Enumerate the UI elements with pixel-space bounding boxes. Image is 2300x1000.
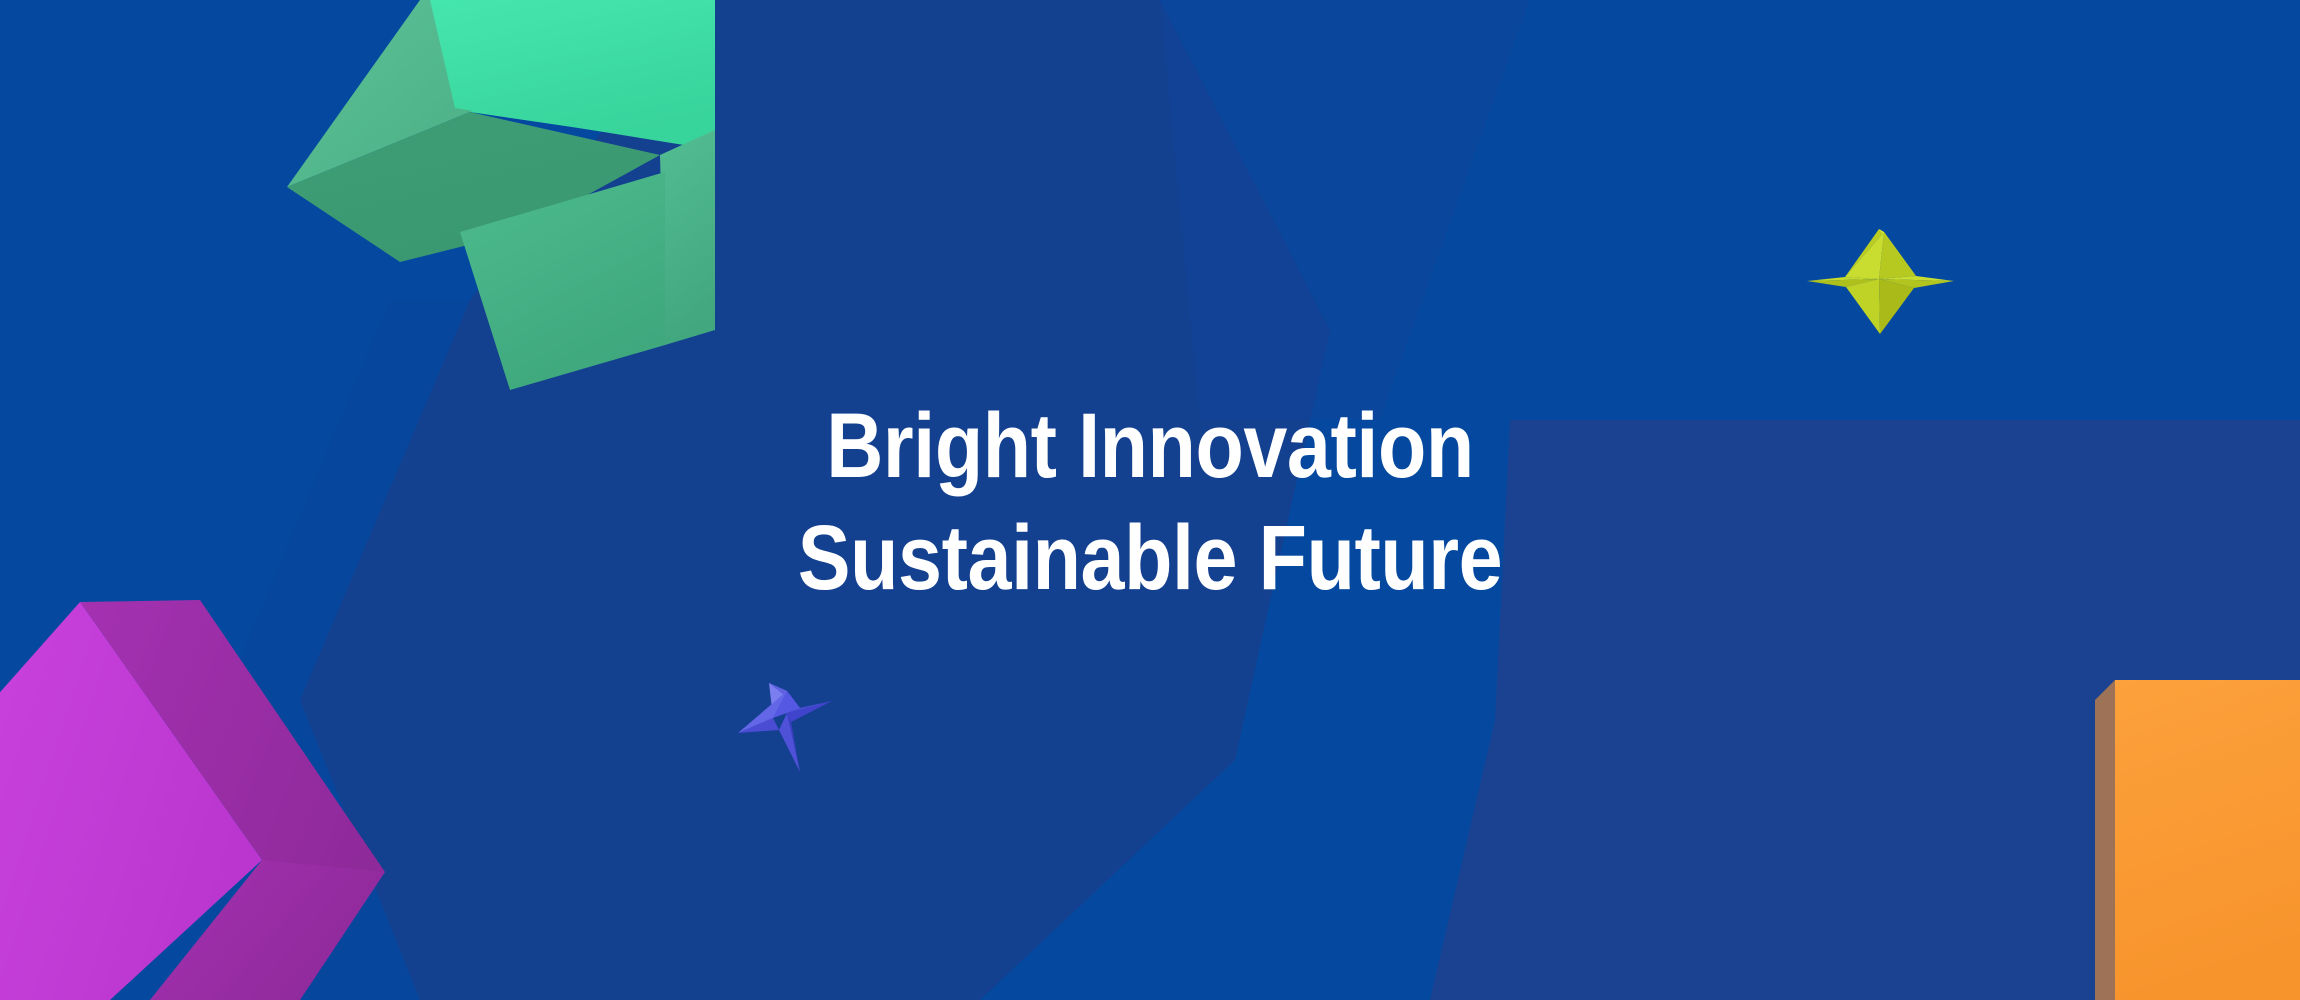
yellow-star-facet-bottom-left [1846,279,1880,334]
yellow-star-facet-core-upper-left [1845,232,1884,279]
orange-cube-shape [2095,680,2300,1000]
green-cube-shape [287,0,715,390]
yellow-star-shape [1807,229,1954,334]
green-cube-face-right [660,130,715,345]
blue-star-shape [738,683,832,772]
yellow-star-facet-core-upper-right [1879,232,1916,279]
orange-cube-edge [2095,680,2115,1000]
yellow-star-facet-bottom-right [1879,279,1914,334]
magenta-cube-shape [0,600,385,1000]
orange-cube-face-front [2115,680,2300,1000]
decorative-shapes-layer [0,0,2300,1000]
hero-banner: Bright Innovation Sustainable Future [0,0,2300,1000]
